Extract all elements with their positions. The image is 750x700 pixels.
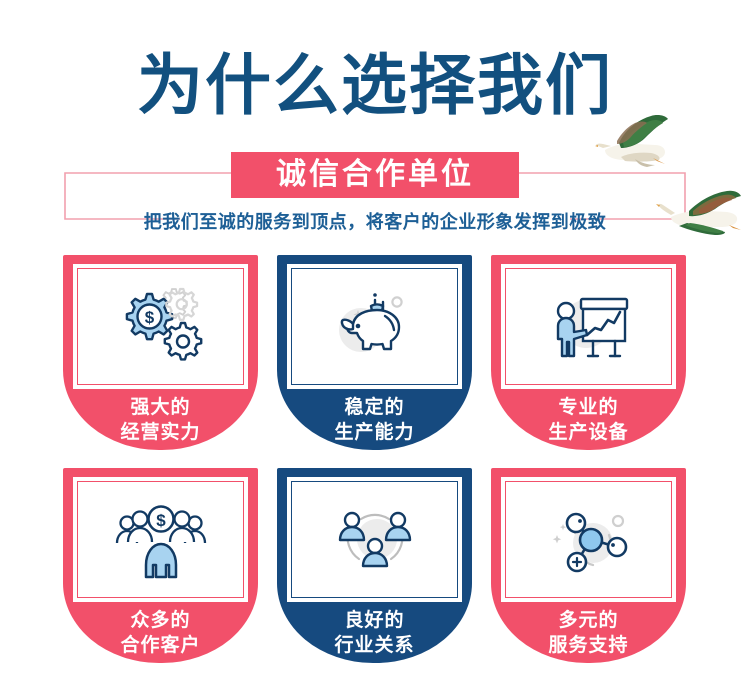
card-label-line2: 生产设备 bbox=[491, 420, 686, 445]
feature-card[interactable]: 稳定的 生产能力 bbox=[277, 255, 472, 450]
svg-text:$: $ bbox=[144, 308, 154, 327]
card-label: 专业的 生产设备 bbox=[491, 395, 686, 445]
card-shield: $ bbox=[63, 255, 258, 450]
presentation-chart-icon bbox=[541, 286, 637, 368]
feature-card[interactable]: $ 众多的 合作客户 bbox=[63, 468, 258, 663]
poster-root: 为什么选择我们 诚信合作单位 把我们至诚的服务到顶点，将客户的企业形象发挥到极致 bbox=[0, 0, 750, 700]
card-label-line1: 专业的 bbox=[558, 397, 618, 418]
card-icon-panel: $ bbox=[73, 264, 248, 389]
card-label: 众多的 合作客户 bbox=[63, 608, 258, 658]
molecule-network-icon bbox=[541, 499, 637, 581]
flying-goose-icon bbox=[655, 185, 743, 239]
card-label: 稳定的 生产能力 bbox=[277, 395, 472, 445]
card-label-line1: 良好的 bbox=[344, 610, 404, 631]
card-label: 多元的 服务支持 bbox=[491, 608, 686, 658]
status-badge: 诚信合作单位 bbox=[231, 152, 519, 198]
card-shield: 稳定的 生产能力 bbox=[277, 255, 472, 450]
feature-card[interactable]: 良好的 行业关系 bbox=[277, 468, 472, 663]
people-network-icon bbox=[327, 499, 423, 581]
card-icon-frame: $ bbox=[77, 268, 244, 385]
flying-goose-icon bbox=[595, 112, 673, 174]
card-icon-panel bbox=[287, 477, 462, 602]
card-icon-panel: $ bbox=[73, 477, 248, 602]
card-label-line1: 强大的 bbox=[130, 397, 190, 418]
card-label-line2: 服务支持 bbox=[491, 633, 686, 658]
card-shield: 专业的 生产设备 bbox=[491, 255, 686, 450]
page-title: 为什么选择我们 bbox=[0, 50, 750, 120]
feature-card[interactable]: 专业的 生产设备 bbox=[491, 255, 686, 450]
card-shield: 良好的 行业关系 bbox=[277, 468, 472, 663]
card-shield: $ 众多的 合作客户 bbox=[63, 468, 258, 663]
card-icon-frame bbox=[291, 481, 458, 598]
card-label-line2: 行业关系 bbox=[277, 633, 472, 658]
piggy-bank-icon bbox=[327, 286, 423, 368]
card-shield: 多元的 服务支持 bbox=[491, 468, 686, 663]
card-icon-frame bbox=[505, 268, 672, 385]
card-label-line1: 多元的 bbox=[558, 610, 618, 631]
card-label-line2: 生产能力 bbox=[277, 420, 472, 445]
card-label-line1: 稳定的 bbox=[344, 397, 404, 418]
badge-label: 诚信合作单位 bbox=[276, 160, 474, 190]
feature-card[interactable]: $ bbox=[63, 255, 258, 450]
page-subtitle: 把我们至诚的服务到顶点，将客户的企业形象发挥到极致 bbox=[0, 210, 750, 234]
card-icon-frame: $ bbox=[77, 481, 244, 598]
card-icon-frame bbox=[505, 481, 672, 598]
card-icon-frame bbox=[291, 268, 458, 385]
poster-header: 为什么选择我们 诚信合作单位 把我们至诚的服务到顶点，将客户的企业形象发挥到极致 bbox=[0, 0, 750, 248]
feature-card-grid: $ bbox=[0, 250, 750, 700]
feature-card[interactable]: 多元的 服务支持 bbox=[491, 468, 686, 663]
card-icon-panel bbox=[501, 477, 676, 602]
card-icon-panel bbox=[501, 264, 676, 389]
gears-dollar-icon: $ bbox=[113, 286, 209, 368]
card-label-line2: 经营实力 bbox=[63, 420, 258, 445]
card-label: 强大的 经营实力 bbox=[63, 395, 258, 445]
svg-text:$: $ bbox=[156, 511, 166, 530]
card-label: 良好的 行业关系 bbox=[277, 608, 472, 658]
card-label-line2: 合作客户 bbox=[63, 633, 258, 658]
card-icon-panel bbox=[287, 264, 462, 389]
card-label-line1: 众多的 bbox=[130, 610, 190, 631]
people-group-dollar-icon: $ bbox=[113, 499, 209, 581]
